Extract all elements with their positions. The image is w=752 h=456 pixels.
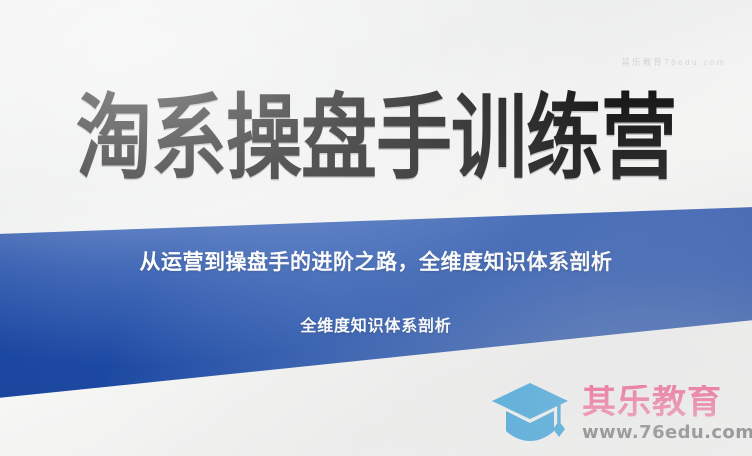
subtitle-secondary: 全维度知识体系剖析 xyxy=(0,312,752,336)
brand-name: 其乐教育 xyxy=(582,385,752,421)
brand-text-group: 其乐教育 www.76edu.com xyxy=(582,385,752,443)
banner-text-group: 从运营到操盘手的进阶之路，全维度知识体系剖析 全维度知识体系剖析 xyxy=(0,246,752,336)
brand-website: www.76edu.com xyxy=(582,422,752,443)
watermark-text: 其乐教育76edu.com xyxy=(621,56,726,68)
brand-logo: 其乐教育 www.76edu.com xyxy=(488,374,740,452)
graduation-cap-icon xyxy=(488,377,572,449)
page-title: 淘系操盘手训练营 xyxy=(0,92,752,185)
course-promo-poster: 其乐教育76edu.com 淘系操盘手训练营 从运营到操盘手的进阶之路，全维度知… xyxy=(0,0,752,456)
subtitle-primary: 从运营到操盘手的进阶之路，全维度知识体系剖析 xyxy=(0,246,752,276)
